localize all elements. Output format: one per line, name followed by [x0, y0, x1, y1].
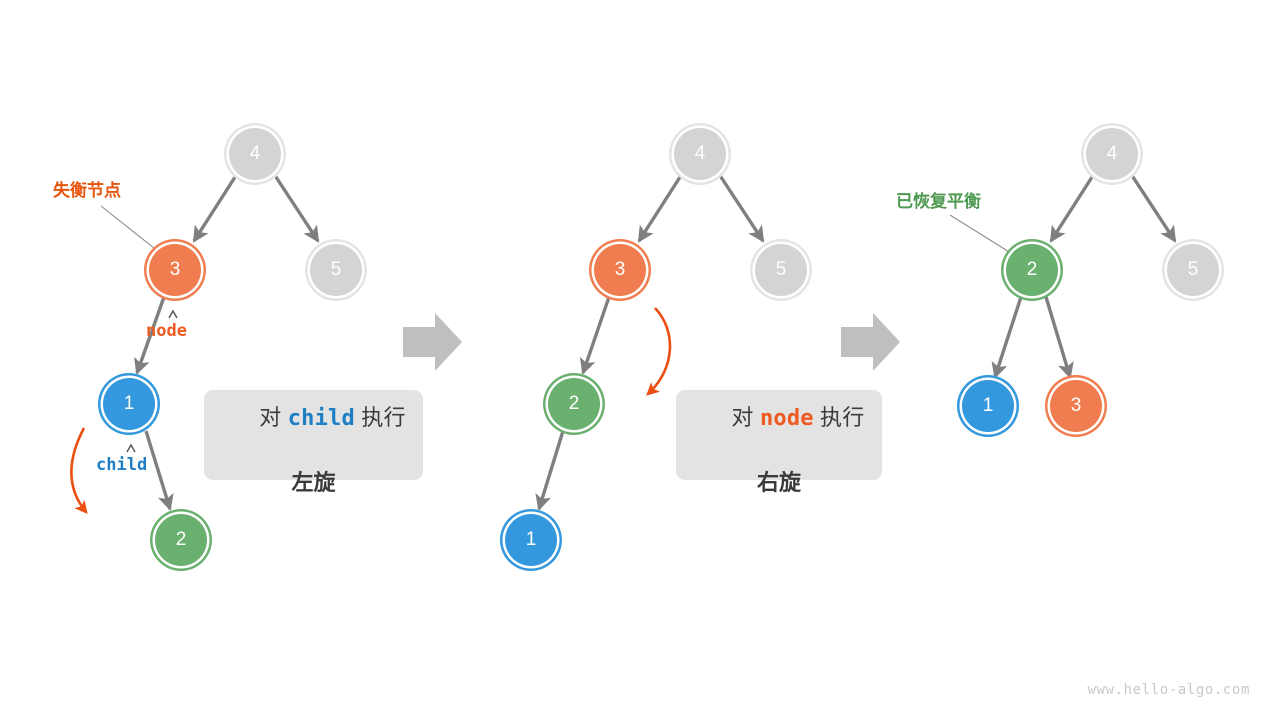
tree-node-4[interactable]: 4 — [1086, 128, 1138, 180]
tree-node-3-label: 3 — [1071, 396, 1082, 415]
operation-action: 右旋 — [757, 465, 801, 497]
tree-node-2-label: 2 — [1027, 260, 1038, 279]
edge-2-1 — [539, 431, 563, 509]
tree-node-1[interactable]: 1 — [962, 380, 1014, 432]
caret-node — [169, 311, 177, 318]
tree-node-4-label: 4 — [1107, 144, 1118, 163]
edge-4-5 — [719, 174, 763, 241]
tree-node-4[interactable]: 4 — [229, 128, 281, 180]
tree-node-3[interactable]: 3 — [1050, 380, 1102, 432]
edge-4-3 — [194, 174, 237, 241]
tree-node-5[interactable]: 5 — [310, 244, 362, 296]
tree-node-1-label: 1 — [124, 394, 135, 413]
operation-box-left-rotate: 对 child 执行 左旋 — [204, 390, 423, 480]
tree-node-2-label: 2 — [569, 394, 580, 413]
tree-node-2[interactable]: 2 — [1006, 244, 1058, 296]
tree-node-2[interactable]: 2 — [155, 514, 207, 566]
operation-text-line-1: 对 node 执行 — [694, 374, 865, 458]
site-watermark: www.hello-algo.com — [1087, 682, 1250, 698]
avl-rotation-diagram: 4 3 5 1 2 失衡节点 node child 4 3 5 2 — [0, 0, 1280, 720]
edge-4-5 — [1131, 174, 1175, 241]
tree-node-5[interactable]: 5 — [755, 244, 807, 296]
tree-node-3[interactable]: 3 — [149, 244, 201, 296]
diagram-vector-layer — [0, 0, 1280, 720]
leader-line-balanced — [950, 215, 1014, 255]
annotation-rebalanced: 已恢复平衡 — [896, 187, 981, 212]
edge-3-2 — [583, 297, 609, 373]
edge-2-3 — [1046, 297, 1070, 377]
tree-node-4-label: 4 — [250, 144, 261, 163]
edge-1-2 — [146, 431, 170, 509]
tree-node-3-label: 3 — [170, 260, 181, 279]
operation-action: 左旋 — [291, 465, 335, 497]
edge-4-2 — [1051, 174, 1094, 241]
tree-node-5-label: 5 — [776, 260, 787, 279]
tree-node-3-label: 3 — [615, 260, 626, 279]
tree-node-1-label: 1 — [526, 530, 537, 549]
operation-target: node — [760, 406, 814, 431]
right-rotation-arrow — [648, 308, 670, 394]
tree-node-1[interactable]: 1 — [505, 514, 557, 566]
tree-node-2[interactable]: 2 — [548, 378, 600, 430]
tree-node-2-label: 2 — [176, 530, 187, 549]
left-rotation-arrow — [71, 428, 86, 512]
tree-node-5[interactable]: 5 — [1167, 244, 1219, 296]
tree-node-4[interactable]: 4 — [674, 128, 726, 180]
operation-suffix: 执行 — [355, 405, 406, 430]
edge-4-5 — [274, 174, 318, 241]
step-arrow-1 — [403, 313, 462, 371]
operation-target: child — [288, 406, 355, 431]
tree-node-5-label: 5 — [1188, 260, 1199, 279]
tree-node-1[interactable]: 1 — [103, 378, 155, 430]
var-label-child: child — [96, 455, 147, 475]
caret-child — [127, 445, 135, 452]
tree-node-3[interactable]: 3 — [594, 244, 646, 296]
step-arrows — [403, 313, 900, 371]
operation-prefix: 对 — [731, 405, 760, 430]
operation-prefix: 对 — [259, 405, 288, 430]
operation-text-line-1: 对 child 执行 — [221, 374, 405, 458]
tree-node-1-label: 1 — [983, 396, 994, 415]
tree-node-5-label: 5 — [331, 260, 342, 279]
step-arrow-2 — [841, 313, 900, 371]
operation-box-right-rotate: 对 node 执行 右旋 — [676, 390, 882, 480]
var-label-node: node — [146, 321, 187, 341]
edge-2-1 — [995, 297, 1021, 377]
tree-node-4-label: 4 — [695, 144, 706, 163]
edge-4-3 — [639, 174, 682, 241]
operation-suffix: 执行 — [814, 405, 865, 430]
leader-line-unbalanced — [101, 206, 159, 252]
annotation-unbalanced-node: 失衡节点 — [53, 176, 121, 201]
